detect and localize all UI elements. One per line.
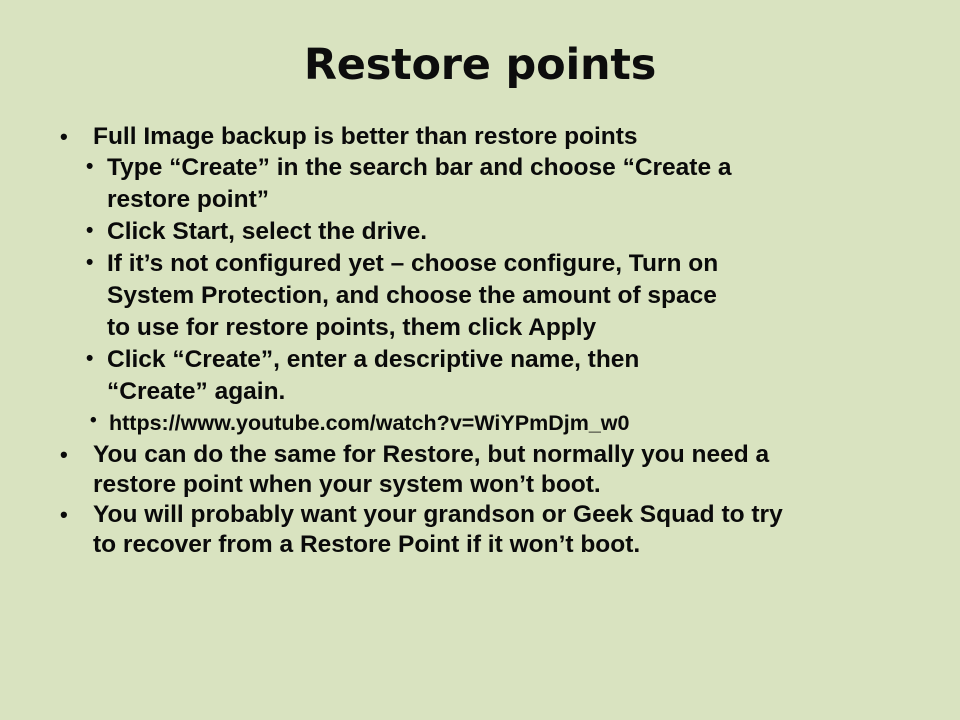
text-line: to use for restore points, them click Ap…: [107, 312, 960, 344]
text-line: You will probably want your grandson or …: [93, 500, 960, 530]
bullet-icon: •: [60, 440, 93, 466]
list-item: • Type “Create” in the search bar and ch…: [0, 152, 960, 216]
list-item-text: You can do the same for Restore, but nor…: [93, 440, 960, 500]
text-line: If it’s not configured yet – choose conf…: [107, 248, 960, 280]
bullet-icon: •: [86, 344, 107, 369]
text-line: Click “Create”, enter a descriptive name…: [107, 344, 960, 376]
bullet-icon: •: [86, 216, 107, 241]
bullet-icon: •: [86, 152, 107, 177]
list-item: • Full Image backup is better than resto…: [0, 122, 960, 152]
slide-body: • Full Image backup is better than resto…: [0, 122, 960, 560]
list-item-text: Click “Create”, enter a descriptive name…: [107, 344, 960, 408]
text-line: “Create” again.: [107, 376, 960, 408]
list-item-text: https://www.youtube.com/watch?v=WiYPmDjm…: [109, 408, 960, 438]
list-item-text: You will probably want your grandson or …: [93, 500, 960, 560]
list-item-text: Full Image backup is better than restore…: [93, 122, 960, 152]
page-title: Restore points: [0, 42, 960, 88]
text-line: restore point when your system won’t boo…: [93, 470, 960, 500]
bullet-icon: •: [90, 408, 109, 430]
text-line: Click Start, select the drive.: [107, 216, 960, 248]
list-item-text: Type “Create” in the search bar and choo…: [107, 152, 960, 216]
text-line: Full Image backup is better than restore…: [93, 122, 960, 152]
list-item-url: • https://www.youtube.com/watch?v=WiYPmD…: [0, 408, 960, 438]
bullet-icon: •: [60, 122, 93, 148]
text-line: restore point”: [107, 184, 960, 216]
list-item-text: If it’s not configured yet – choose conf…: [107, 248, 960, 344]
list-item: • Click Start, select the drive.: [0, 216, 960, 248]
list-item: • If it’s not configured yet – choose co…: [0, 248, 960, 344]
bullet-icon: •: [86, 248, 107, 273]
list-item: • You will probably want your grandson o…: [0, 500, 960, 560]
text-line: to recover from a Restore Point if it wo…: [93, 530, 960, 560]
list-item: • Click “Create”, enter a descriptive na…: [0, 344, 960, 408]
text-line: Type “Create” in the search bar and choo…: [107, 152, 960, 184]
bullet-icon: •: [60, 500, 93, 526]
text-line: You can do the same for Restore, but nor…: [93, 440, 960, 470]
list-item: • You can do the same for Restore, but n…: [0, 440, 960, 500]
list-item-text: Click Start, select the drive.: [107, 216, 960, 248]
youtube-link[interactable]: https://www.youtube.com/watch?v=WiYPmDjm…: [109, 408, 960, 438]
text-line: System Protection, and choose the amount…: [107, 280, 960, 312]
slide-canvas: Restore points • Full Image backup is be…: [0, 0, 960, 720]
